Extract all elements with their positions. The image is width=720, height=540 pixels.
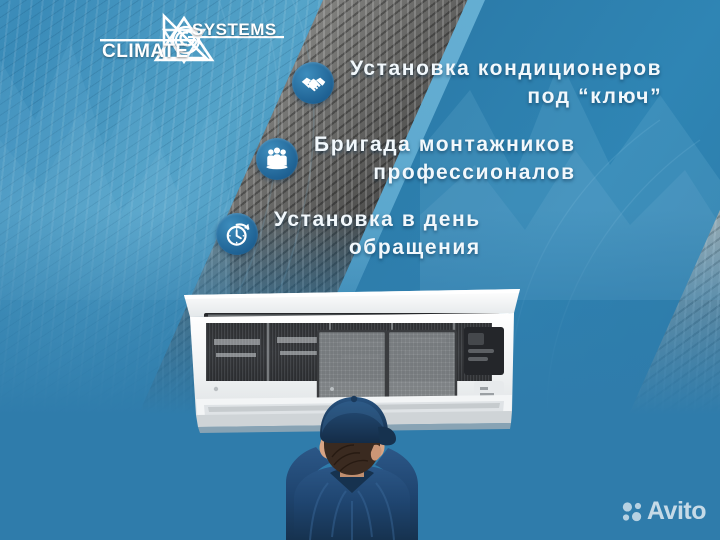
feature-text: Установка в день обращения [274, 206, 481, 263]
feature-icon-circle [216, 213, 258, 255]
feature-item-professional-team: Бригада монтажников профессионалов [256, 131, 576, 188]
feature-item-same-day-installation: Установка в день обращения [216, 206, 481, 263]
advertisement-banner: CLIMATE SYSTEMS Установка кондиционеров … [0, 0, 720, 540]
feature-text-line-1: Установка кондиционеров [350, 55, 662, 83]
handshake-icon [300, 70, 327, 97]
feature-text-line-2: профессионалов [314, 159, 576, 187]
feature-text: Установка кондиционеров под “ключ” [350, 55, 662, 112]
feature-text-line-1: Установка в день [274, 206, 481, 234]
feature-icon-circle [292, 62, 334, 104]
avito-dots-logo-icon [621, 501, 643, 523]
air-conditioner-installation-photo [182, 287, 522, 540]
wall-mounted-air-conditioner-icon [182, 287, 522, 540]
feature-item-turnkey-installation: Установка кондиционеров под “ключ” [292, 55, 662, 112]
feature-icon-circle [256, 138, 298, 180]
feature-text: Бригада монтажников профессионалов [314, 131, 576, 188]
logo-word-systems: SYSTEMS [192, 20, 277, 40]
feature-text-line-2: под “ключ” [350, 83, 662, 111]
avito-watermark-label: Avito [647, 497, 706, 526]
feature-text-line-1: Бригада монтажников [314, 131, 576, 159]
group-of-people-icon [264, 146, 290, 172]
avito-watermark: Avito [621, 497, 706, 526]
logo-word-climate: CLIMATE [102, 41, 189, 63]
feature-text-line-2: обращения [274, 234, 481, 262]
company-logo: CLIMATE SYSTEMS [100, 12, 285, 68]
clock-with-arrow-icon [224, 221, 251, 248]
